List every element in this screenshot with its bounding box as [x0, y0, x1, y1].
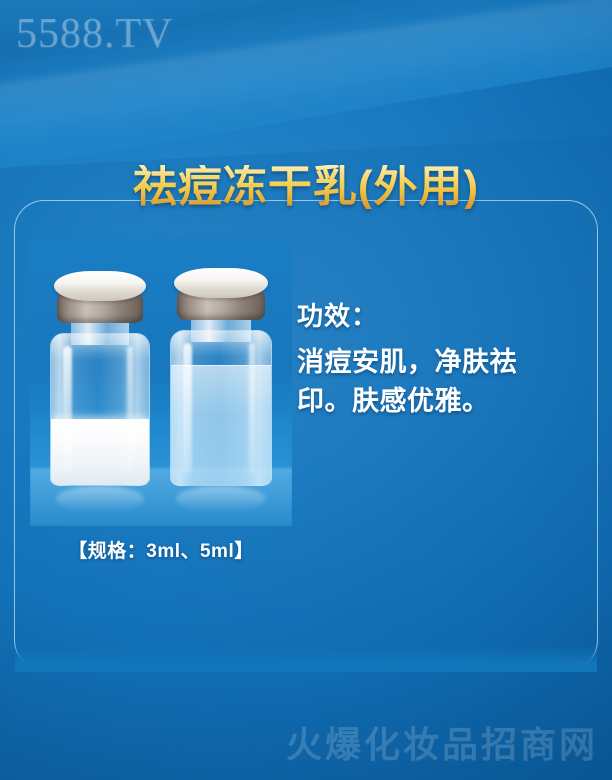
- efficacy-line-2: 印。肤感优雅。: [297, 382, 597, 421]
- specification-label: 【规格：3ml、5ml】: [30, 536, 292, 563]
- vial-base-reflection: [56, 486, 144, 512]
- vial-glint-right: [249, 343, 255, 472]
- vial-cap-top-icon: [54, 271, 146, 301]
- product-poster: 5588.TV 祛痘冻干乳(外用): [0, 0, 612, 780]
- efficacy-block: 功效： 消痘安肌，净肤祛 印。肤感优雅。: [297, 296, 597, 421]
- vial-glint-right: [127, 346, 133, 473]
- efficacy-heading: 功效：: [297, 296, 597, 333]
- vial-body: [50, 333, 150, 486]
- vial-cap-top-icon: [174, 268, 268, 298]
- efficacy-line-1: 消痘安肌，净肤祛: [297, 343, 597, 382]
- page-title: 祛痘冻干乳(外用): [0, 165, 612, 209]
- watermark-top: 5588.TV: [16, 10, 174, 58]
- watermark-bottom: 火爆化妆品招商网: [286, 716, 598, 768]
- vial-glint-left: [183, 343, 192, 472]
- frame-fade-mask: [15, 646, 597, 672]
- vial-base-reflection: [176, 486, 266, 512]
- product-photo: [30, 238, 292, 526]
- vial-glint-left: [63, 346, 72, 473]
- vial-body: [170, 330, 272, 486]
- powder-vial: [50, 271, 150, 486]
- liquid-vial: [170, 268, 272, 486]
